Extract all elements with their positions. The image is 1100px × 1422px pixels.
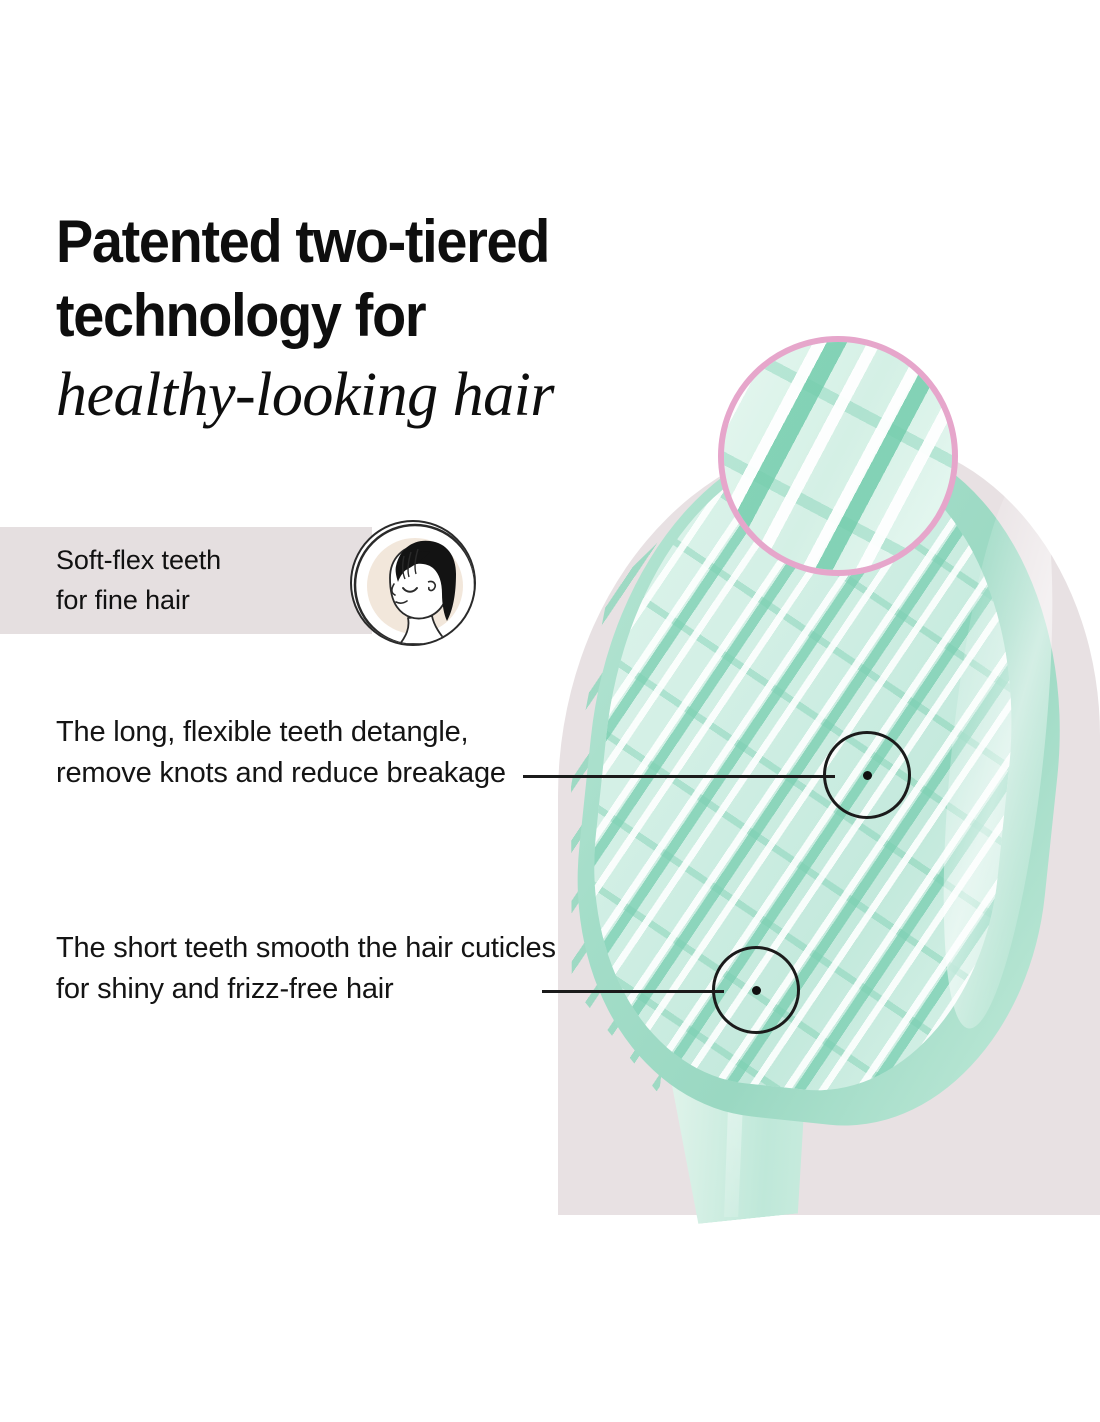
banner-label-line-1: Soft-flex teeth <box>56 540 356 580</box>
callout-leader-line-2 <box>542 990 724 993</box>
callout-leader-line-1 <box>523 775 835 778</box>
woman-profile-icon <box>350 520 476 646</box>
feature-text-short-teeth: The short teeth smooth the hair cuticles… <box>56 928 556 1010</box>
product-infographic: Patented two-tiered technology for healt… <box>0 0 1100 1422</box>
magnified-bristles <box>718 336 958 576</box>
headline-line-1: Patented two-tiered <box>56 205 688 279</box>
feature-text-long-teeth: The long, flexible teeth detangle, remov… <box>56 712 526 794</box>
callout-dot <box>752 986 761 995</box>
callout-dot <box>863 771 872 780</box>
magnifier-circle <box>718 336 958 576</box>
banner-label-line-2: for fine hair <box>56 580 356 620</box>
callout-circle-short-teeth <box>712 946 800 1034</box>
headline-line-2: technology for <box>56 279 688 353</box>
soft-flex-banner-label: Soft-flex teeth for fine hair <box>56 540 356 620</box>
page-title: Patented two-tiered technology for healt… <box>56 205 736 437</box>
callout-circle-long-teeth <box>823 731 911 819</box>
headline-line-3: healthy-looking hair <box>56 353 736 437</box>
